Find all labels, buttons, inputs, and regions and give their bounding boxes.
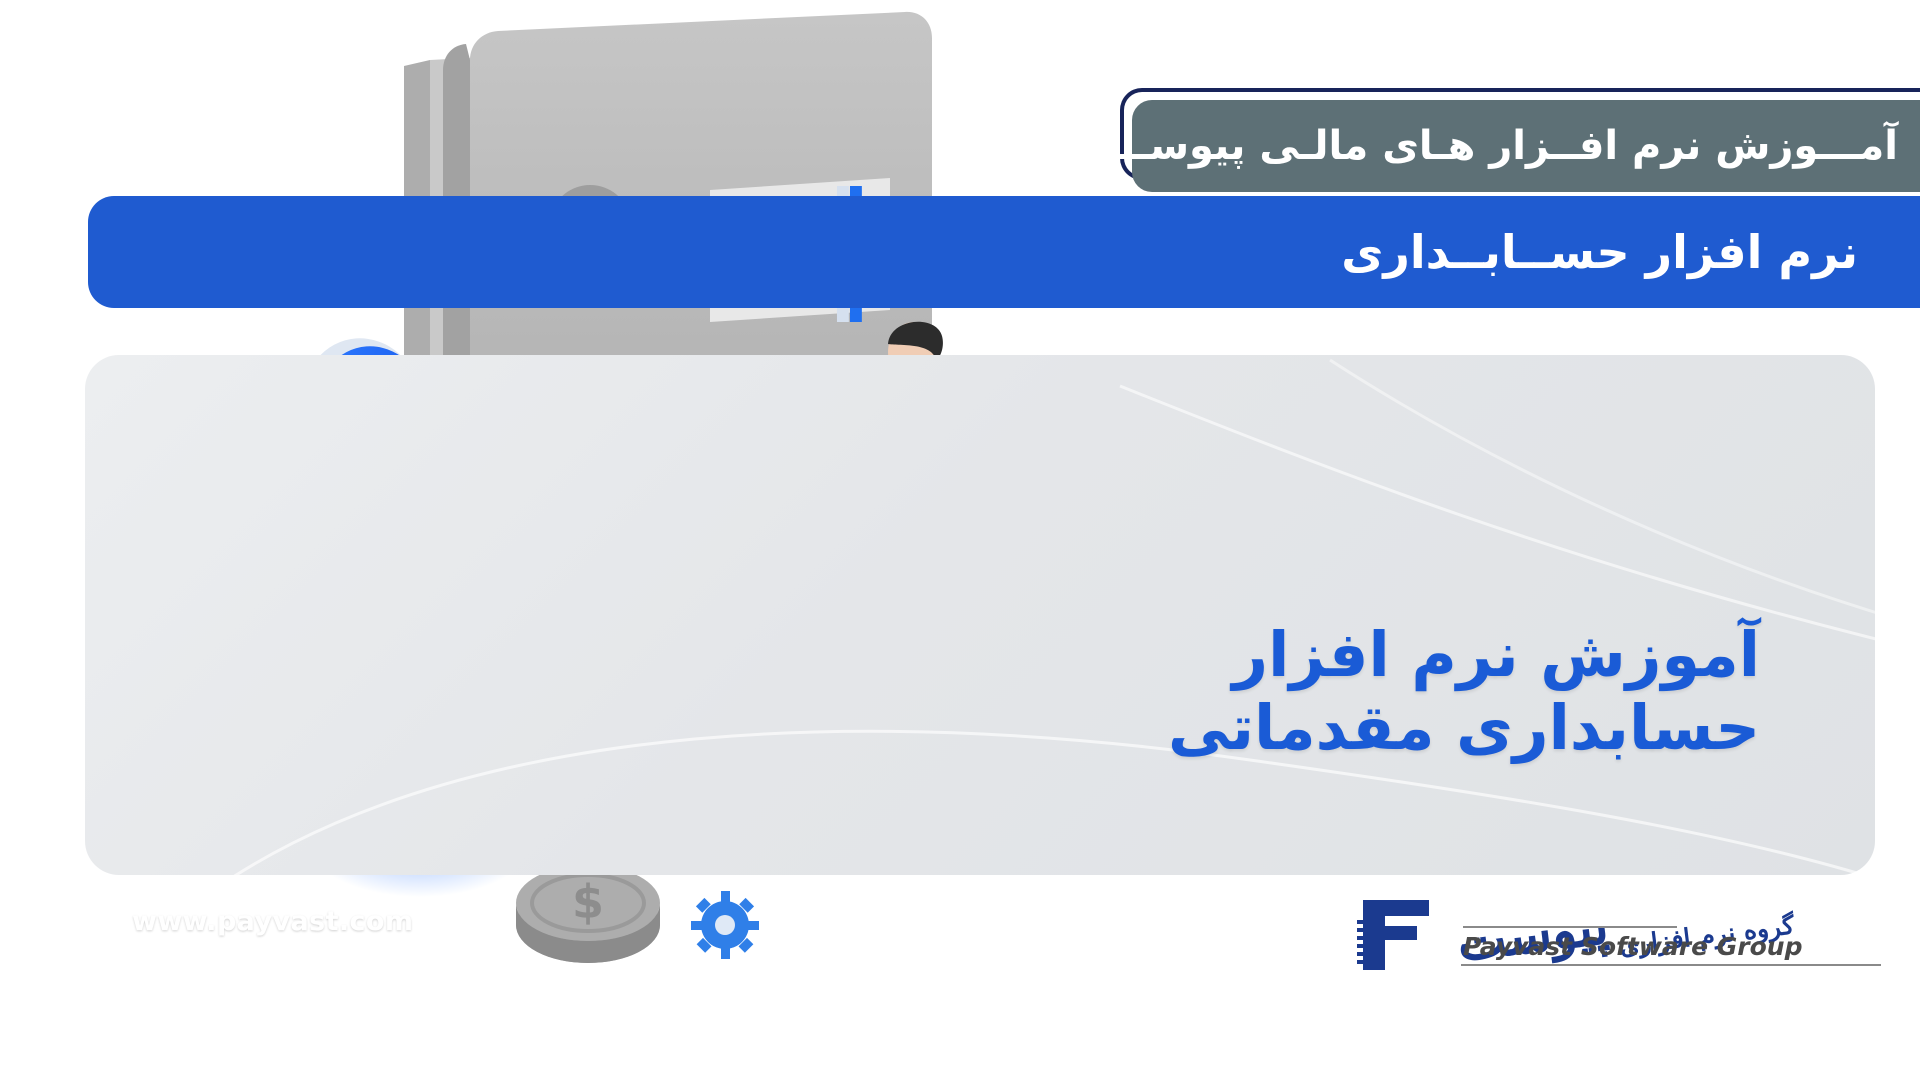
sub-ribbon-label: نرم افزار حســابــداری <box>1341 225 1858 279</box>
content-card <box>85 355 1875 875</box>
page-title: آموزش نرم افزار حسابداری مقدماتی <box>1168 618 1760 764</box>
dollar-coin-stack: $ <box>516 865 660 963</box>
banner-root: € € $ $ $ <box>0 0 1920 1080</box>
top-ribbon-label: آمـــوزش نرم افــزار هـای مالـی پیوســت <box>1080 123 1898 169</box>
headline-line-2: حسابداری مقدماتی <box>1168 691 1760 764</box>
top-ribbon: آمـــوزش نرم افــزار هـای مالـی پیوســت <box>1132 100 1920 192</box>
payvast-logo[interactable]: گروه نرم افزاری پیوست Payvast Software G… <box>1355 880 1900 990</box>
logo-rule <box>1461 964 1881 966</box>
sub-ribbon: نرم افزار حســابــداری <box>88 196 1920 308</box>
payvast-p-logo-icon <box>1355 896 1447 974</box>
logo-rule-short <box>1463 926 1677 928</box>
gear-icon-blue <box>691 891 759 959</box>
headline-line-1: آموزش نرم افزار <box>1232 618 1760 691</box>
logo-english-name: Payvast Software Group <box>1463 932 1803 961</box>
svg-text:$: $ <box>572 875 604 929</box>
site-url[interactable]: www.payvast.com <box>132 906 413 937</box>
